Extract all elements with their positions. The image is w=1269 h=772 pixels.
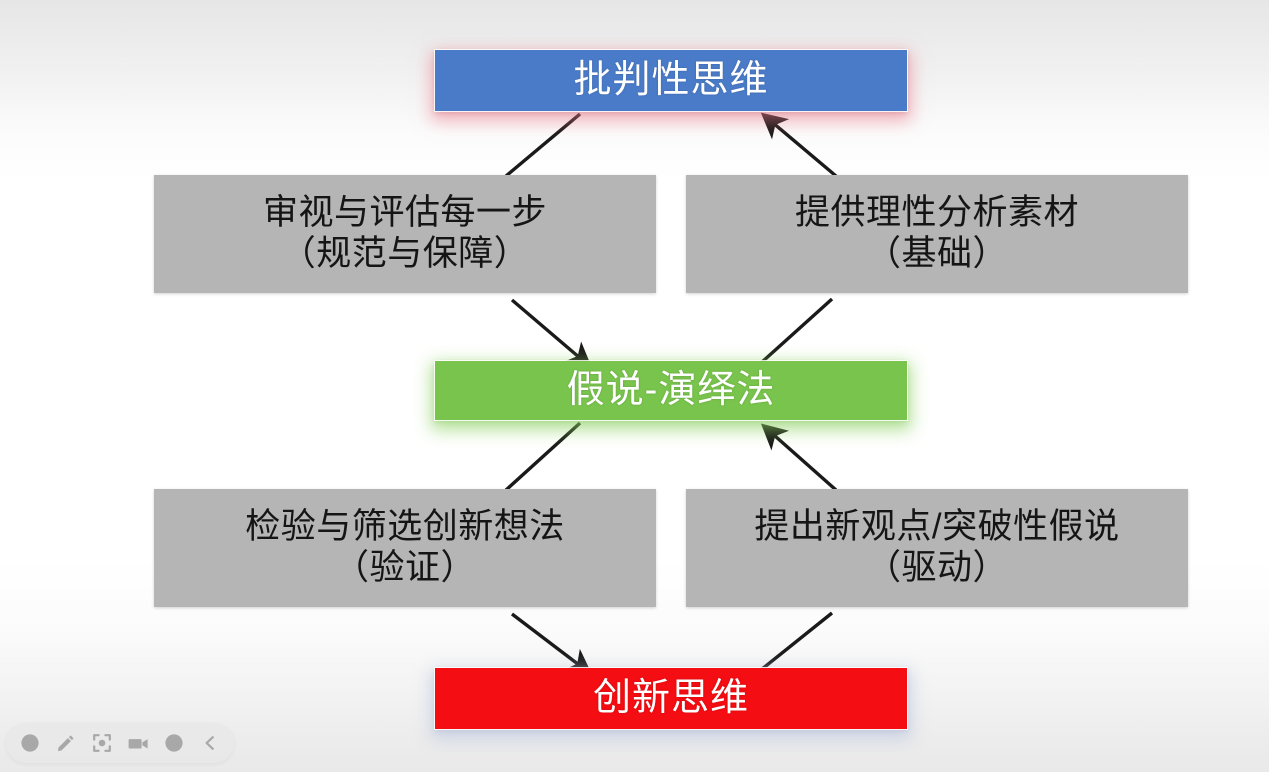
edge-critical-to-review <box>506 114 580 176</box>
screenshot-icon <box>92 733 112 753</box>
more-icon <box>164 733 184 753</box>
node-review-and-evaluate: 审视与评估每一步 （规范与保障） <box>154 175 656 293</box>
collapse-toolbar-button[interactable] <box>193 726 227 760</box>
node-rational-analysis-material-line-1: 提供理性分析素材 <box>795 193 1079 234</box>
edge-innovation-to-propose <box>762 613 832 669</box>
edge-propose-to-hypothesis <box>766 428 836 490</box>
video-camera-icon <box>127 733 149 753</box>
node-verify-and-screen-ideas: 检验与筛选创新想法 （验证） <box>154 489 656 607</box>
play-icon <box>20 733 40 753</box>
node-review-and-evaluate-line-1: 审视与评估每一步 <box>263 193 547 234</box>
play-button[interactable] <box>13 726 47 760</box>
node-review-and-evaluate-line-2: （规范与保障） <box>281 234 530 275</box>
node-critical-thinking: 批判性思维 <box>435 50 907 111</box>
edge-verify-to-innovation <box>512 614 587 671</box>
record-video-button[interactable] <box>121 726 155 760</box>
node-propose-new-viewpoint-line-1: 提出新观点/突破性假说 <box>754 507 1119 548</box>
node-hypothetico-deductive-method-line-1: 假说-演绎法 <box>567 368 776 412</box>
edge-hypothesis-to-rational <box>762 299 832 362</box>
screenshot-button[interactable] <box>85 726 119 760</box>
node-verify-and-screen-ideas-line-1: 检验与筛选创新想法 <box>245 507 565 548</box>
node-rational-analysis-material: 提供理性分析素材 （基础） <box>686 175 1188 293</box>
pencil-button[interactable] <box>49 726 83 760</box>
node-verify-and-screen-ideas-line-2: （验证） <box>334 548 476 589</box>
pencil-icon <box>56 733 76 753</box>
node-propose-new-viewpoint: 提出新观点/突破性假说 （驱动） <box>686 489 1188 607</box>
node-propose-new-viewpoint-line-2: （驱动） <box>866 548 1008 589</box>
slide-canvas: 批判性思维 审视与评估每一步 （规范与保障） 提供理性分析素材 （基础） 假说-… <box>0 0 1269 772</box>
edge-review-to-hypothesis <box>512 300 587 364</box>
chevron-left-icon <box>200 733 220 753</box>
node-innovative-thinking: 创新思维 <box>435 668 907 729</box>
node-innovative-thinking-line-1: 创新思维 <box>593 676 749 720</box>
node-critical-thinking-line-1: 批判性思维 <box>573 58 768 102</box>
edge-rational-to-critical <box>766 117 836 176</box>
player-toolbar <box>6 723 234 763</box>
node-hypothetico-deductive-method: 假说-演绎法 <box>435 361 907 420</box>
edge-hypothesis-to-verify <box>506 423 580 490</box>
more-options-button[interactable] <box>157 726 191 760</box>
node-rational-analysis-material-line-2: （基础） <box>866 234 1008 275</box>
